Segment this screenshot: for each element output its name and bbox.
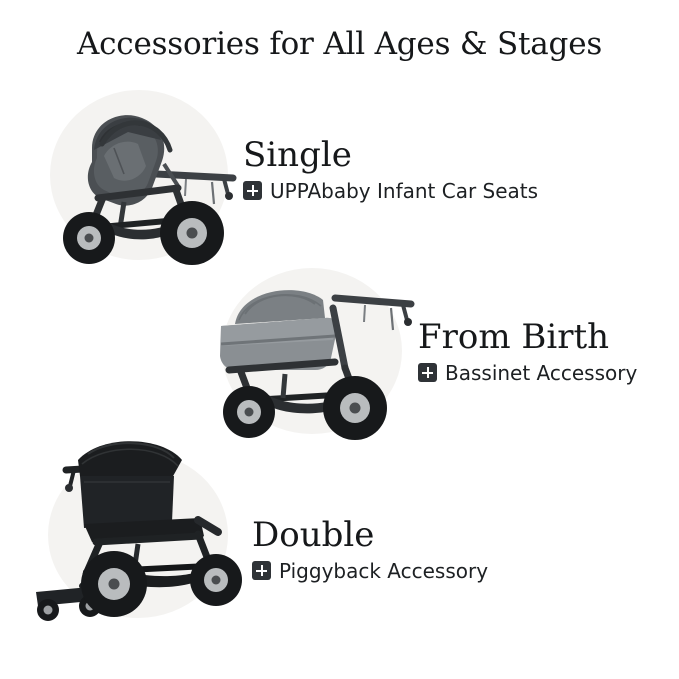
caption-from-birth: From Birth Bassinet Accessory bbox=[418, 320, 637, 384]
page-title: Accessories for All Ages & Stages bbox=[0, 26, 679, 62]
stroller-with-infant-car-seat-image bbox=[28, 78, 258, 268]
item-accessory: Bassinet Accessory bbox=[445, 362, 637, 384]
row-double: Double Piggyback Accessory bbox=[0, 424, 679, 644]
item-accessory: UPPAbaby Infant Car Seats bbox=[270, 180, 538, 202]
caption-single: Single UPPAbaby Infant Car Seats bbox=[243, 138, 538, 202]
plus-icon bbox=[243, 181, 262, 200]
stroller-with-piggyback-board-image bbox=[22, 424, 262, 639]
row-single: Single UPPAbaby Infant Car Seats bbox=[0, 78, 679, 268]
caption-double: Double Piggyback Accessory bbox=[252, 518, 488, 582]
item-title: Single bbox=[243, 138, 538, 174]
plus-icon bbox=[252, 561, 271, 580]
accessories-infographic: Accessories for All Ages & Stages bbox=[0, 0, 679, 679]
stroller-with-bassinet-image bbox=[205, 248, 435, 448]
item-title: From Birth bbox=[418, 320, 637, 356]
plus-icon bbox=[418, 363, 437, 382]
item-title: Double bbox=[252, 518, 488, 554]
item-accessory: Piggyback Accessory bbox=[279, 560, 488, 582]
row-from-birth: From Birth Bassinet Accessory bbox=[0, 248, 679, 448]
